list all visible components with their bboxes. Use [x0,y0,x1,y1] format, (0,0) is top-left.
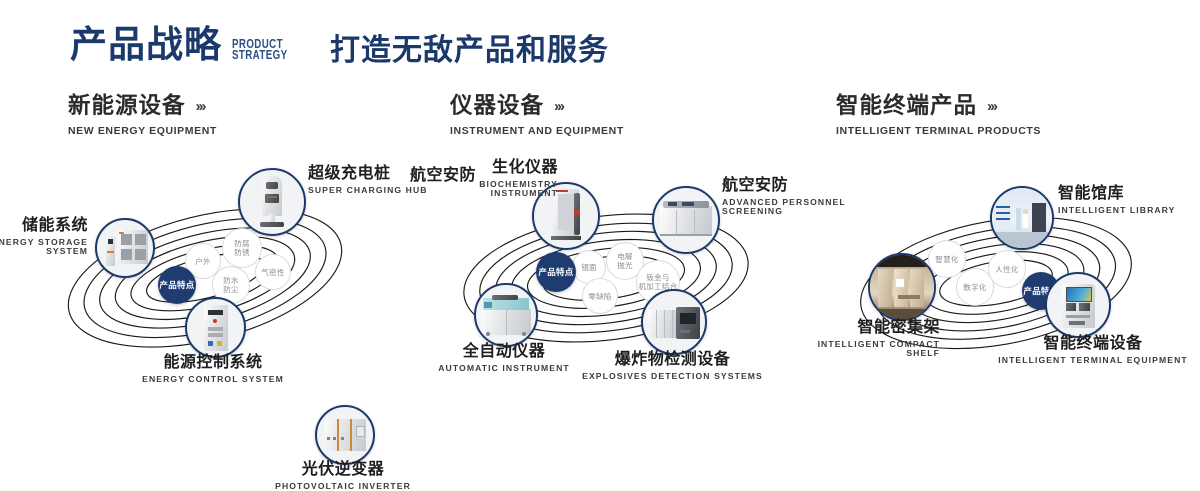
chevron-right-icon: ››› [554,99,563,114]
section-title-cn: 智能终端产品 [836,95,977,118]
kiosk-icon [1047,274,1109,336]
node-label-cn: 储能系统 [0,218,88,235]
auto-analyzer-icon [476,285,536,345]
node-label-cn: 全自动仪器 [424,344,584,361]
section-header-intelligent-terminal: 智能终端产品 ››› INTELLIGENT TERMINAL PRODUCTS [836,95,1041,137]
page-title: 产品战略 PRODUCT STRATEGY [70,26,303,63]
feature-label: 气密性 [261,268,284,277]
core-label: 产品特点 [538,267,573,277]
product-strategy-infographic: 产品战略 PRODUCT STRATEGY 打造无敌产品和服务 新能源设备 ››… [0,0,1200,422]
feature-bubble: 人性化 [988,250,1026,288]
feature-label: 防水 防尘 [223,276,239,294]
node-label-cn: 智能馆库 [1058,186,1198,203]
node-energy-control-system[interactable] [185,297,246,358]
node-photovoltaic-inverter[interactable] [315,405,375,465]
node-label-cn: 生化仪器 [430,160,558,177]
node-label-en: INTELLIGENT TERMINAL EQUIPMENT [998,356,1188,365]
library-room-icon [992,188,1052,248]
node-automatic-instrument[interactable] [474,283,538,347]
section-title-en: INTELLIGENT TERMINAL PRODUCTS [836,125,1041,137]
battery-cabinet-icon [97,220,153,276]
feature-label: 数字化 [963,283,986,292]
node-label-cn: 能源控制系统 [128,355,298,372]
page-title-cn: 产品战略 [70,26,222,63]
node-label-cn: 光伏逆变器 [268,462,418,479]
node-label-en: ENERGY STORAGE SYSTEM [0,238,88,256]
node-label-en: INTELLIGENT COMPACT SHELF [790,340,940,358]
chevron-right-icon: ››› [987,99,996,114]
page-title-en: PRODUCT STRATEGY [232,39,287,61]
node-intelligent-compact-shelf[interactable] [868,253,936,321]
section-title-cn: 仪器设备 [450,95,544,118]
cluster-new-energy: 户外 防腐 防锈 防水 防尘 气密性 产品特点 储能系统 [0,150,420,400]
screening-machine-icon [654,188,718,252]
feature-label: 防腐 防锈 [234,239,250,257]
node-label-en: BIOCHEMISTRY INSTRUMENT [430,180,558,198]
feature-label: 户外 [195,257,211,266]
node-caption-explosives-detection: 爆炸物检测设备 EXPLOSIVES DETECTION SYSTEMS [580,352,765,381]
charging-pile-icon [240,170,304,234]
feature-label: 零缺陷 [588,292,611,301]
node-super-charging-hub[interactable] [238,168,306,236]
feature-bubble: 零缺陷 [582,278,618,314]
node-caption-intelligent-terminal-equipment: 智能终端设备 INTELLIGENT TERMINAL EQUIPMENT [998,336,1188,365]
compact-shelf-icon [870,255,934,319]
cluster-instrument: 镜面 电解 抛光 钣金与 机加工结合 零缺陷 产品特点 航空安防 生化仪器 [400,150,820,400]
node-advanced-personnel-screening[interactable] [652,186,720,254]
explosive-detector-icon [643,291,705,353]
node-caption-intelligent-compact-shelf: 智能密集架 INTELLIGENT COMPACT SHELF [790,320,940,358]
control-cabinet-icon [187,299,244,356]
page-slogan: 打造无敌产品和服务 [330,36,609,66]
node-explosives-detection[interactable] [641,289,707,355]
node-caption-intelligent-library: 智能馆库 INTELLIGENT LIBRARY [1058,186,1198,215]
section-title-en: INSTRUMENT AND EQUIPMENT [450,125,624,137]
section-header-new-energy: 新能源设备 ››› NEW ENERGY EQUIPMENT [68,95,217,137]
node-label-en: INTELLIGENT LIBRARY [1058,206,1198,215]
core-label: 产品特点 [159,280,194,290]
chevron-right-icon: ››› [196,99,205,114]
inverter-cabinet-icon [317,407,373,463]
feature-label: 镜面 [581,263,597,272]
node-label-en: EXPLOSIVES DETECTION SYSTEMS [580,372,765,381]
node-caption-automatic-instrument: 全自动仪器 AUTOMATIC INSTRUMENT [424,344,584,373]
node-label-cn: 爆炸物检测设备 [580,352,765,369]
section-title-cn: 新能源设备 [68,95,186,118]
node-caption-energy-storage: 储能系统 ENERGY STORAGE SYSTEM [0,218,88,256]
feature-bubble: 气密性 [255,254,291,290]
feature-label: 智慧化 [935,255,958,264]
node-intelligent-terminal-equipment[interactable] [1045,272,1111,338]
node-label-cn: 智能终端设备 [998,336,1188,353]
node-label-en: ENERGY CONTROL SYSTEM [128,375,298,384]
cluster-intelligent-terminal: 智慧化 数字化 人性化 产品特点 智能馆库 INTELLIGENT LIBRA [800,150,1200,400]
section-header-instrument: 仪器设备 ››› INSTRUMENT AND EQUIPMENT [450,95,624,137]
node-label-en: AUTOMATIC INSTRUMENT [424,364,584,373]
feature-label: 电解 抛光 [617,252,633,270]
node-caption-energy-control-system: 能源控制系统 ENERGY CONTROL SYSTEM [128,355,298,384]
section-title-en: NEW ENERGY EQUIPMENT [68,125,217,137]
node-label-en: PHOTOVOLTAIC INVERTER [268,482,418,491]
feature-label: 人性化 [995,265,1018,274]
node-energy-storage[interactable] [95,218,155,278]
feature-bubble: 防腐 防锈 [222,228,262,268]
node-intelligent-library[interactable] [990,186,1054,250]
core-bubble: 产品特点 [536,252,576,292]
node-caption-biochemistry-instrument: 生化仪器 BIOCHEMISTRY INSTRUMENT [430,160,558,198]
node-label-cn: 智能密集架 [790,320,940,337]
node-caption-photovoltaic-inverter: 光伏逆变器 PHOTOVOLTAIC INVERTER [268,462,418,491]
